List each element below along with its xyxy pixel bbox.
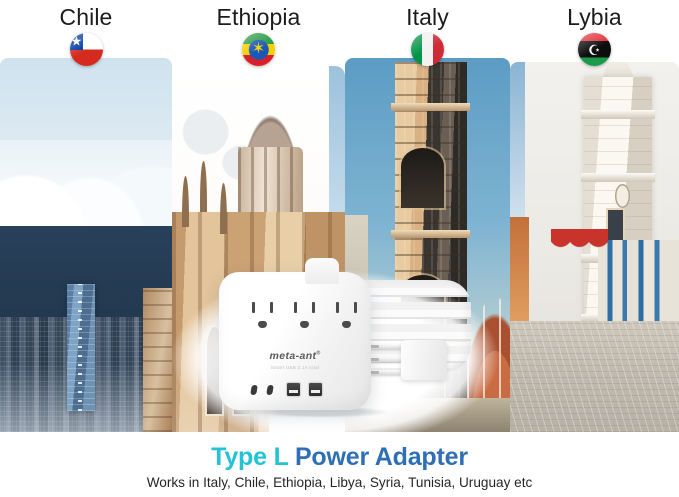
- lybia-flag-crescent-star: ☪: [588, 43, 601, 57]
- usb-port-row: [249, 382, 341, 398]
- lybia-tower-ledge: [581, 173, 655, 182]
- lybia-clock-face: [615, 184, 630, 208]
- outlet-slot: [354, 302, 357, 313]
- usb-a-port: [309, 383, 322, 396]
- outlet-ground-hole: [258, 321, 267, 328]
- type-l-plug-body: [401, 340, 447, 380]
- lybia-tower-ledge: [581, 110, 655, 119]
- lybia-sky-blue-edge: [510, 62, 525, 217]
- outlet-slot: [252, 302, 255, 313]
- chile-flag-star: ★: [71, 35, 83, 48]
- adapter-body: meta-ant® Smart USB 3.1A total: [219, 272, 371, 410]
- country-name: Italy: [345, 4, 510, 31]
- outlet-slot: [294, 302, 297, 313]
- lybia-street-pavement: [510, 321, 679, 432]
- lybia-red-awnings: [551, 229, 608, 255]
- ac-outlet: [329, 302, 365, 334]
- outlet-slot: [270, 302, 273, 313]
- country-label-lybia: Lybia ☪: [510, 4, 679, 66]
- outlet-slot: [336, 302, 339, 313]
- brand-name: meta-ant: [269, 350, 316, 362]
- footer-captions: Type L Power Adapter Works in Italy, Chi…: [0, 442, 679, 493]
- country-panel-lybia: Lybia ☪: [510, 0, 679, 432]
- flag-italy-icon: [411, 33, 444, 66]
- country-name: Chile: [0, 4, 172, 31]
- lybia-photo: [510, 62, 679, 432]
- outlet-slot: [312, 302, 315, 313]
- country-name: Ethiopia: [172, 4, 345, 31]
- ethiopia-spire: [200, 161, 207, 212]
- headline-accent: Type L: [211, 443, 288, 471]
- headline-subtitle: Works in Italy, Chile, Ethiopia, Libya, …: [0, 473, 679, 493]
- ethiopia-flag-disc: [248, 39, 268, 59]
- italy-arched-window: [401, 148, 444, 208]
- ac-outlet: [287, 302, 323, 334]
- product-marketing-image: Chile ★: [0, 0, 679, 497]
- usb-c-port: [250, 385, 258, 395]
- italy-cornice: [391, 230, 470, 238]
- product-fine-print: Smart USB 3.1A total: [219, 365, 371, 370]
- usb-c-port: [266, 385, 274, 395]
- flag-ethiopia-icon: ✶: [242, 33, 275, 66]
- country-label-ethiopia: Ethiopia ✶: [172, 4, 345, 66]
- brand-trademark: ®: [316, 351, 320, 357]
- product-power-adapter: meta-ant® Smart USB 3.1A total: [205, 262, 465, 434]
- ac-outlet: [245, 302, 281, 334]
- adapter-top-nub: [305, 258, 339, 284]
- usb-a-port: [287, 383, 300, 396]
- country-label-italy: Italy: [345, 4, 510, 66]
- italy-cornice: [391, 103, 470, 111]
- flag-lybia-icon: ☪: [578, 33, 611, 66]
- country-label-chile: Chile ★: [0, 4, 172, 66]
- chile-snow-mountains: [0, 140, 172, 237]
- flag-chile-icon: ★: [70, 33, 103, 66]
- product-brand-logo: meta-ant®: [219, 350, 371, 362]
- headline-rest: Power Adapter: [288, 443, 468, 471]
- ethiopia-flag-star: ✶: [252, 41, 265, 57]
- outlet-ground-hole: [342, 321, 351, 328]
- lybia-shopfronts: [598, 240, 679, 321]
- headline: Type L Power Adapter: [0, 442, 679, 472]
- outlet-ground-hole: [300, 321, 309, 328]
- chile-gran-torre: [67, 284, 95, 412]
- country-name: Lybia: [510, 4, 679, 31]
